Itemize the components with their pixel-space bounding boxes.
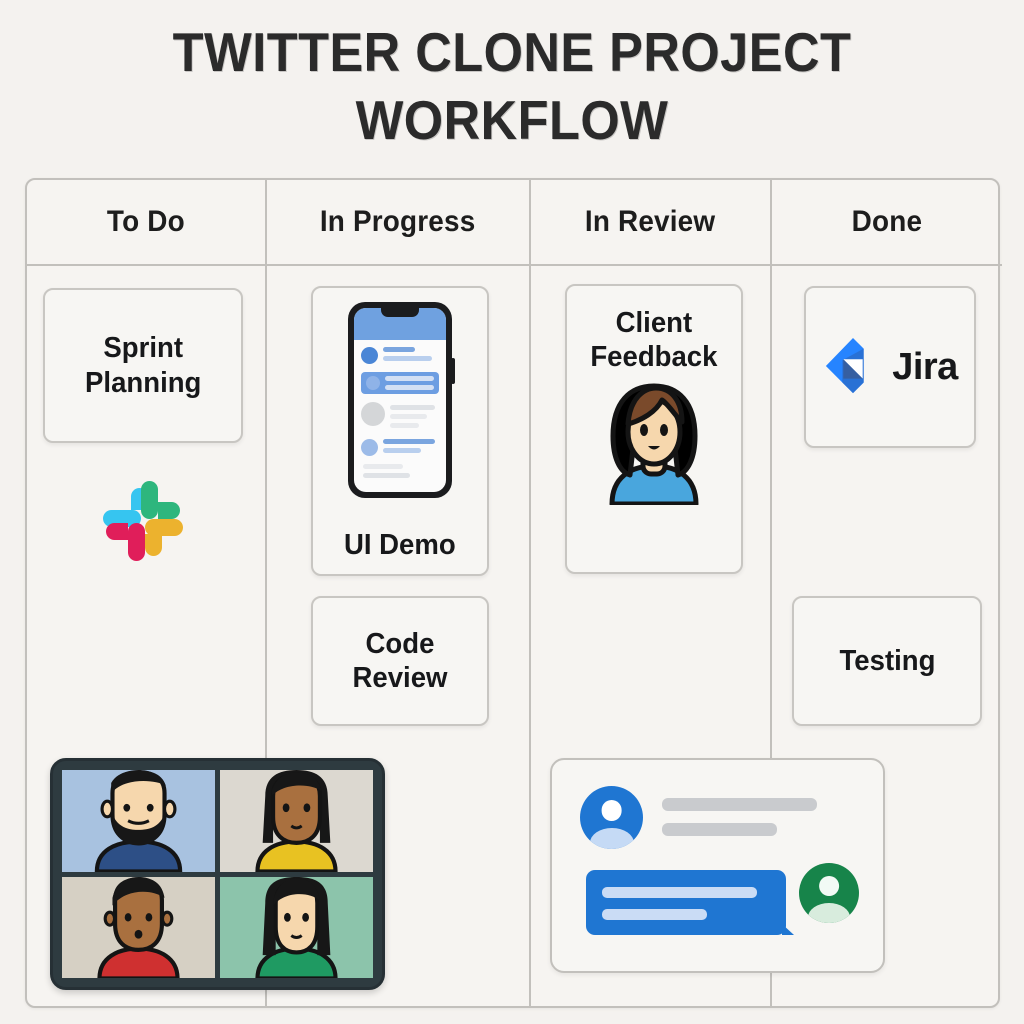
phone-screen	[354, 308, 446, 492]
card-code-review[interactable]: Code Review	[311, 596, 489, 726]
participant-avatar-man-red-icon	[62, 877, 215, 979]
chat-avatar-green-icon	[799, 863, 859, 923]
card-jira[interactable]: Jira	[804, 286, 976, 448]
column-header-to-do[interactable]: To Do	[27, 180, 265, 266]
slack-logo-icon	[101, 476, 185, 560]
slack-red-bar-icon	[128, 523, 145, 561]
phone-feed	[354, 340, 446, 478]
card-client-feedback[interactable]: Client Feedback	[565, 284, 743, 574]
slack-yellow-stem-icon	[145, 534, 162, 556]
chat-placeholder-line	[662, 798, 817, 811]
feed-item-highlighted	[361, 372, 439, 394]
feed-item	[361, 347, 439, 365]
card-sprint-planning-label: Sprint Planning	[85, 331, 201, 399]
chat-message-bubble	[586, 870, 786, 935]
card-testing-label: Testing	[839, 644, 935, 678]
video-participant-tile[interactable]	[220, 877, 373, 979]
column-header-in-review-label: In Review	[585, 205, 715, 239]
card-ui-demo-label: UI Demo	[344, 528, 456, 562]
jira-logo-icon	[822, 336, 884, 398]
video-participant-tile[interactable]	[62, 770, 215, 872]
card-jira-label: Jira	[892, 346, 958, 389]
participant-avatar-bearded-man-icon	[62, 770, 215, 872]
column-header-in-progress-label: In Progress	[320, 205, 476, 239]
chat-placeholder-line	[662, 823, 777, 836]
phone-side-button-icon	[451, 358, 455, 384]
card-sprint-planning[interactable]: Sprint Planning	[43, 288, 243, 443]
page-title: Twitter Clone Project Workflow	[41, 18, 983, 154]
video-participant-tile[interactable]	[62, 877, 215, 979]
column-header-to-do-label: To Do	[107, 205, 185, 239]
column-header-done-label: Done	[852, 205, 923, 239]
feed-avatar-icon	[366, 376, 380, 390]
column-header-in-progress[interactable]: In Progress	[267, 180, 529, 266]
card-testing[interactable]: Testing	[792, 596, 982, 726]
feed-avatar-icon	[361, 402, 385, 426]
person-avatar-icon	[594, 380, 714, 505]
participant-avatar-woman-yellow-icon	[220, 770, 373, 872]
phone-notch-icon	[381, 308, 419, 317]
phone-topbar	[354, 308, 446, 340]
feed-avatar-icon	[361, 439, 378, 456]
feed-item	[361, 439, 439, 457]
slack-red-stem-icon	[106, 523, 128, 540]
card-code-review-label: Code Review	[353, 627, 448, 695]
card-ui-demo[interactable]: UI Demo	[311, 286, 489, 576]
slack-green-stem-icon	[158, 502, 180, 519]
column-header-in-review[interactable]: In Review	[531, 180, 770, 266]
video-call-grid[interactable]	[50, 758, 385, 990]
video-participant-tile[interactable]	[220, 770, 373, 872]
card-client-feedback-label: Client Feedback	[590, 306, 717, 374]
chat-preview-card[interactable]	[550, 758, 885, 973]
feed-avatar-icon	[361, 347, 378, 364]
chat-avatar-blue-icon	[580, 786, 643, 849]
slack-green-bar-icon	[141, 481, 158, 519]
column-header-done[interactable]: Done	[772, 180, 1002, 266]
participant-avatar-woman-green-icon	[220, 877, 373, 979]
feed-item	[361, 402, 439, 432]
phone-mockup-icon	[348, 302, 452, 498]
